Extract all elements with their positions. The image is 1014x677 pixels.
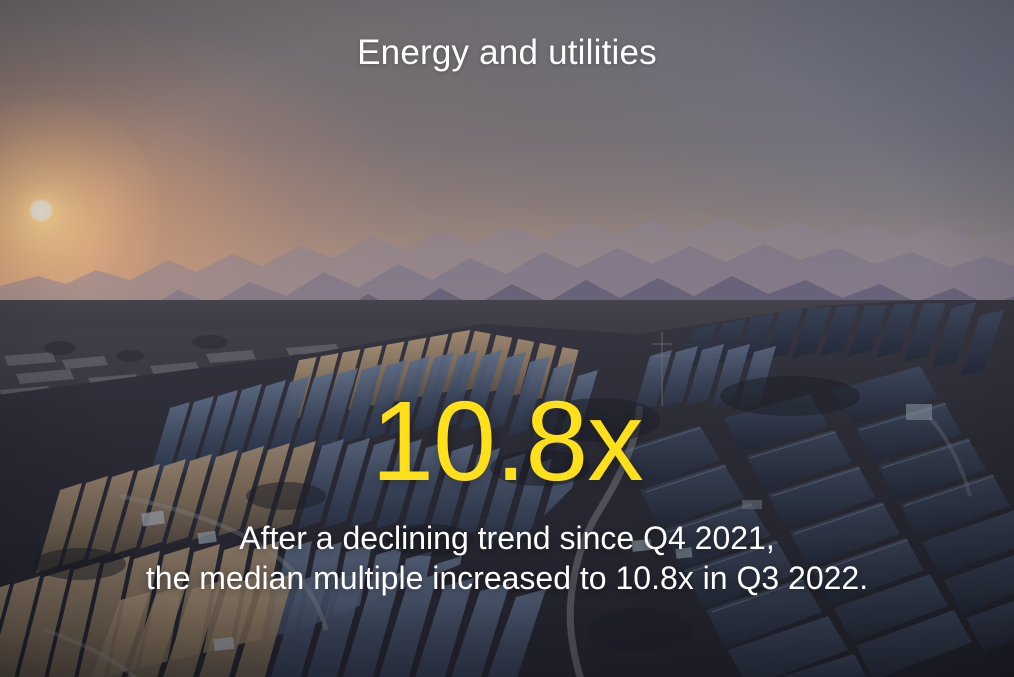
caption-block: After a declining trend since Q4 2021, t… (0, 518, 1014, 598)
caption-line-1: After a declining trend since Q4 2021, (0, 518, 1014, 558)
presentation-slide: Energy and utilities 10.8x After a decli… (0, 0, 1014, 677)
headline-stat: 10.8x (0, 385, 1014, 498)
page-title: Energy and utilities (0, 33, 1014, 73)
caption-line-2: the median multiple increased to 10.8x i… (0, 558, 1014, 598)
